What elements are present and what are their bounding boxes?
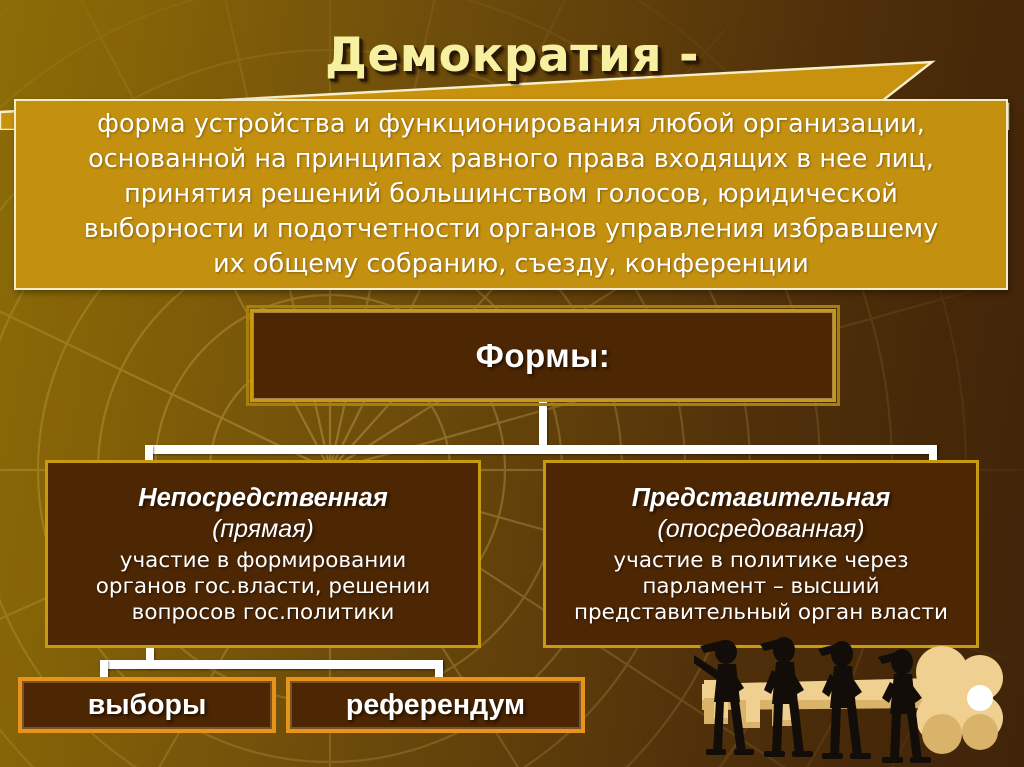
diagram-node-representative-democracy[interactable]: Представительная (опосредованная) участи…	[543, 460, 979, 648]
diagram-node-forms[interactable]: Формы:	[250, 309, 836, 402]
key-icon	[702, 646, 1003, 754]
people-carrying-key-illustration	[694, 634, 1024, 767]
branch-body-text: участие в политике через парламент – выс…	[574, 548, 948, 626]
leaf-label: выборы	[88, 689, 207, 722]
definition-box: форма устройства и функционирования любо…	[14, 99, 1008, 290]
connector-branch-bar	[145, 445, 937, 454]
stick-figure	[694, 640, 754, 755]
page-title: Демократия -	[0, 28, 1024, 83]
stick-figure	[760, 637, 813, 757]
branch-heading: Представительная	[632, 483, 891, 514]
stick-figure	[878, 649, 931, 763]
stick-figure	[818, 641, 871, 759]
connector-leaf-bar	[100, 660, 443, 669]
connector-root-stem	[539, 402, 547, 448]
presentation-slide: Демократия - форма устройства и функцион…	[0, 0, 1024, 767]
branch-heading: Непосредственная	[138, 483, 388, 514]
diagram-node-referendum[interactable]: референдум	[286, 677, 585, 733]
branch-subheading: (прямая)	[212, 514, 314, 545]
branch-body-text: участие в формировании органов гос.власт…	[96, 548, 430, 626]
diagram-node-direct-democracy[interactable]: Непосредственная (прямая) участие в форм…	[45, 460, 481, 648]
leaf-label: референдум	[346, 689, 525, 722]
diagram-node-forms-label: Формы:	[476, 337, 611, 375]
diagram-node-elections[interactable]: выборы	[18, 677, 276, 733]
branch-subheading: (опосредованная)	[657, 514, 864, 545]
definition-text: форма устройства и функционирования любо…	[70, 107, 953, 282]
